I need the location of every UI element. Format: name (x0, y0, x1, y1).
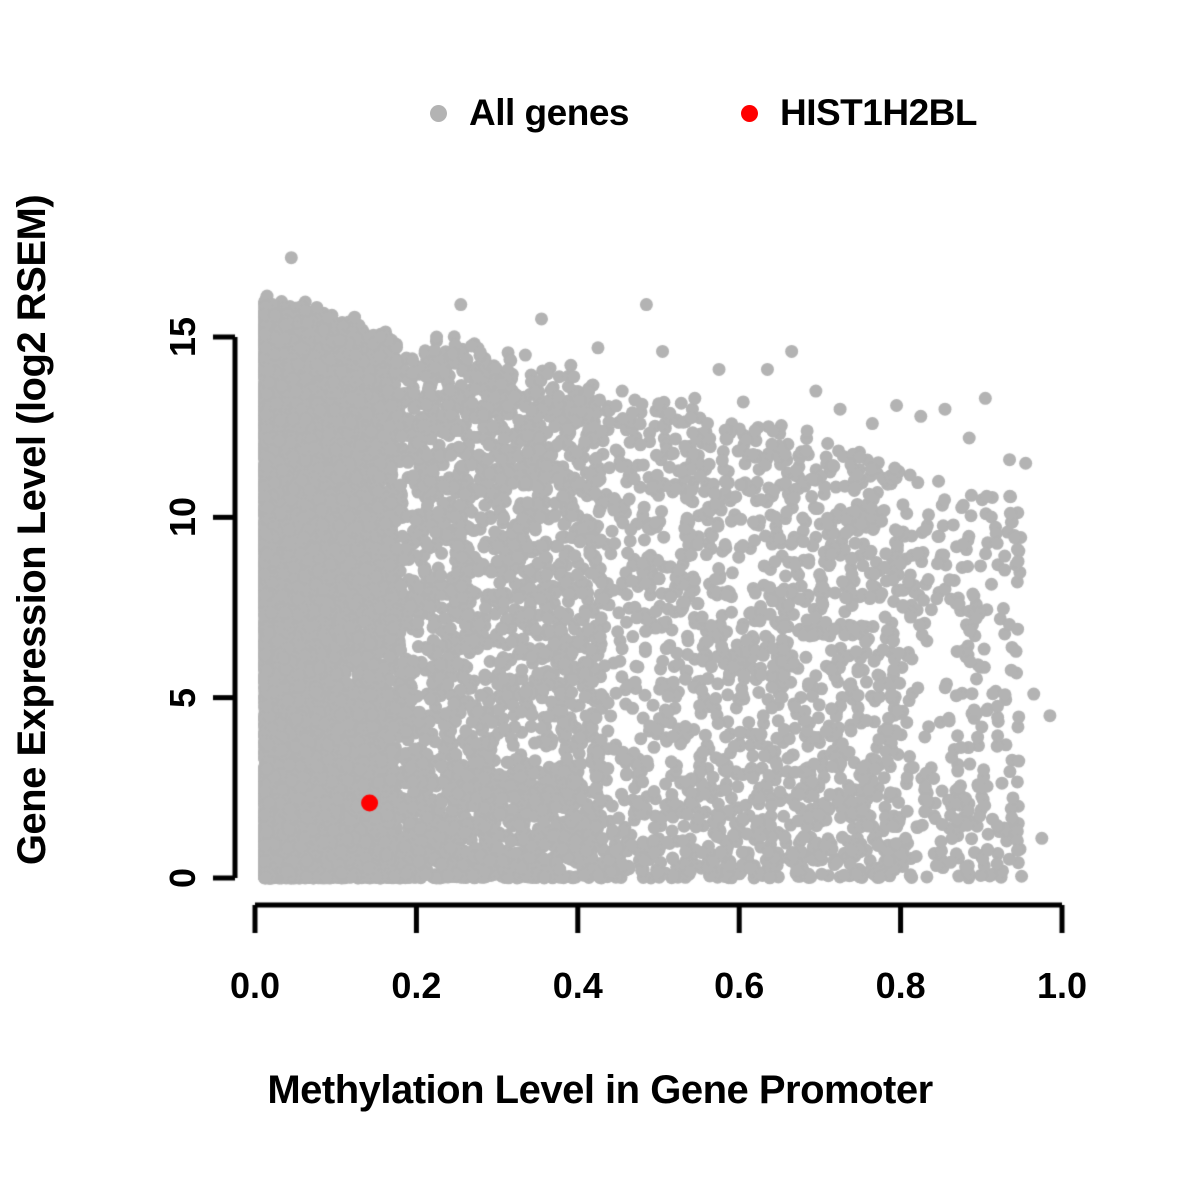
legend-item-hist1h2bl: HIST1H2BL (741, 92, 977, 134)
x-tick-label-3: 0.6 (714, 965, 764, 1007)
legend-marker-hist1h2bl (741, 105, 758, 122)
x-tick-label-0: 0.0 (230, 965, 280, 1007)
y-tick-label-3: 15 (160, 311, 206, 363)
x-tick-label-5: 1.0 (1037, 965, 1087, 1007)
scatter-plot-canvas (0, 0, 1200, 1200)
y-tick-label-0: 0 (160, 852, 206, 904)
y-tick-label-2: 10 (160, 491, 206, 543)
scatter-plot-figure: All genes HIST1H2BL 051015 0.00.20.40.60… (0, 0, 1200, 1200)
legend-label-all-genes: All genes (469, 92, 629, 134)
y-tick-label-1: 5 (160, 672, 206, 724)
x-tick-label-4: 0.8 (876, 965, 926, 1007)
x-tick-label-1: 0.2 (391, 965, 441, 1007)
legend-marker-all-genes (430, 105, 447, 122)
y-axis-title: Gene Expression Level (log2 RSEM) (0, 0, 64, 1130)
chart-legend: All genes HIST1H2BL (430, 82, 1070, 144)
legend-label-hist1h2bl: HIST1H2BL (780, 92, 977, 134)
x-tick-label-2: 0.4 (553, 965, 603, 1007)
legend-item-all-genes: All genes (430, 92, 629, 134)
x-axis-title: Methylation Level in Gene Promoter (0, 1068, 1200, 1113)
